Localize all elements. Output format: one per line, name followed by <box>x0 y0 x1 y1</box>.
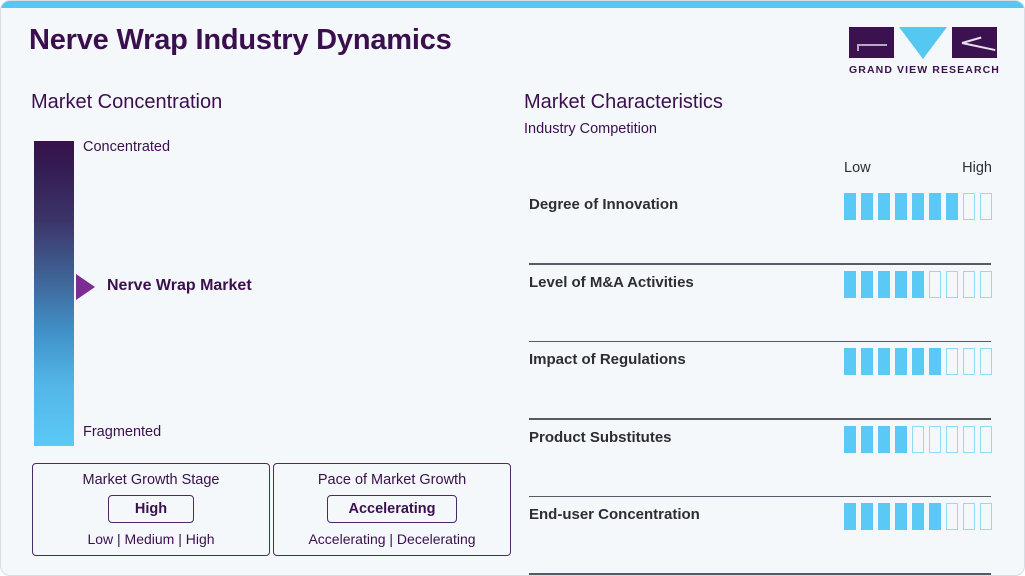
logo-block-left-icon <box>849 27 894 58</box>
characteristic-meter <box>844 426 992 453</box>
meter-tick-filled <box>878 426 890 453</box>
concentration-gradient-bar <box>34 141 74 446</box>
characteristic-row: Impact of Regulations <box>529 342 992 420</box>
meter-tick-filled <box>895 271 907 298</box>
meter-tick-filled <box>844 348 856 375</box>
characteristic-row: Product Substitutes <box>529 420 992 498</box>
market-growth-stage-card: Market Growth Stage High Low | Medium | … <box>32 463 270 556</box>
meter-tick-filled <box>895 348 907 375</box>
market-concentration-heading: Market Concentration <box>31 91 222 114</box>
meter-tick-filled <box>929 503 941 530</box>
concentration-bottom-label: Fragmented <box>83 424 161 440</box>
meter-tick-empty <box>963 271 975 298</box>
meter-tick-empty <box>946 503 958 530</box>
meter-tick-filled <box>895 193 907 220</box>
meter-tick-filled <box>844 271 856 298</box>
meter-tick-empty <box>963 193 975 220</box>
characteristic-meter <box>844 271 992 298</box>
meter-tick-filled <box>844 426 856 453</box>
characteristic-label: End-user Concentration <box>529 506 700 523</box>
logo-block-right-icon <box>952 27 997 58</box>
meter-tick-filled <box>861 271 873 298</box>
market-characteristics-subheading: Industry Competition <box>524 121 657 137</box>
meter-tick-empty <box>980 348 992 375</box>
infographic-canvas: Nerve Wrap Industry Dynamics GRAND VIEW … <box>0 0 1025 576</box>
meter-tick-filled <box>929 348 941 375</box>
meter-tick-filled <box>895 503 907 530</box>
characteristic-meter <box>844 348 992 375</box>
meter-tick-empty <box>946 271 958 298</box>
scale-low-label: Low <box>844 160 871 176</box>
card-options: Accelerating | Decelerating <box>274 531 510 547</box>
meter-tick-filled <box>861 348 873 375</box>
meter-tick-filled <box>929 193 941 220</box>
meter-tick-empty <box>929 426 941 453</box>
meter-tick-filled <box>895 426 907 453</box>
meter-tick-filled <box>844 193 856 220</box>
page-title: Nerve Wrap Industry Dynamics <box>29 24 452 57</box>
meter-tick-empty <box>980 193 992 220</box>
market-position-label: Nerve Wrap Market <box>107 277 252 295</box>
logo-marks <box>849 27 997 60</box>
market-characteristics-heading: Market Characteristics <box>524 91 723 114</box>
meter-tick-empty <box>912 426 924 453</box>
meter-tick-filled <box>861 426 873 453</box>
card-title: Market Growth Stage <box>33 472 269 488</box>
characteristic-row: Degree of Innovation <box>529 187 992 265</box>
market-position-arrow-icon <box>76 274 95 300</box>
meter-tick-filled <box>912 503 924 530</box>
meter-tick-filled <box>878 193 890 220</box>
characteristics-rows: Degree of InnovationLevel of M&A Activit… <box>529 187 992 575</box>
scale-high-label: High <box>954 160 992 176</box>
meter-tick-filled <box>912 271 924 298</box>
meter-tick-filled <box>878 271 890 298</box>
characteristic-meter <box>844 503 992 530</box>
meter-tick-empty <box>963 426 975 453</box>
meter-tick-empty <box>946 348 958 375</box>
meter-tick-filled <box>878 503 890 530</box>
top-accent-bar <box>1 1 1025 8</box>
grand-view-research-logo: GRAND VIEW RESEARCH <box>849 27 997 76</box>
card-value-pill: Accelerating <box>327 495 456 523</box>
pace-of-market-growth-card: Pace of Market Growth Accelerating Accel… <box>273 463 511 556</box>
meter-tick-empty <box>929 271 941 298</box>
characteristic-meter <box>844 193 992 220</box>
characteristic-row: Level of M&A Activities <box>529 265 992 343</box>
logo-wordmark: GRAND VIEW RESEARCH <box>849 64 997 76</box>
characteristic-label: Impact of Regulations <box>529 351 686 368</box>
meter-tick-filled <box>861 503 873 530</box>
meter-tick-empty <box>963 348 975 375</box>
card-options: Low | Medium | High <box>33 531 269 547</box>
meter-tick-filled <box>878 348 890 375</box>
meter-tick-filled <box>912 193 924 220</box>
characteristic-label: Level of M&A Activities <box>529 274 694 291</box>
meter-tick-filled <box>861 193 873 220</box>
concentration-top-label: Concentrated <box>83 139 170 155</box>
meter-tick-empty <box>980 271 992 298</box>
characteristic-row: End-user Concentration <box>529 497 992 575</box>
characteristic-label: Product Substitutes <box>529 429 672 446</box>
meter-tick-empty <box>946 426 958 453</box>
logo-triangle-icon <box>899 27 947 59</box>
meter-tick-empty <box>980 503 992 530</box>
meter-tick-empty <box>980 426 992 453</box>
characteristic-label: Degree of Innovation <box>529 196 678 213</box>
card-title: Pace of Market Growth <box>274 472 510 488</box>
meter-tick-filled <box>912 348 924 375</box>
meter-tick-filled <box>946 193 958 220</box>
meter-tick-filled <box>844 503 856 530</box>
row-divider <box>529 573 991 575</box>
meter-tick-empty <box>963 503 975 530</box>
card-value-pill: High <box>108 495 194 523</box>
